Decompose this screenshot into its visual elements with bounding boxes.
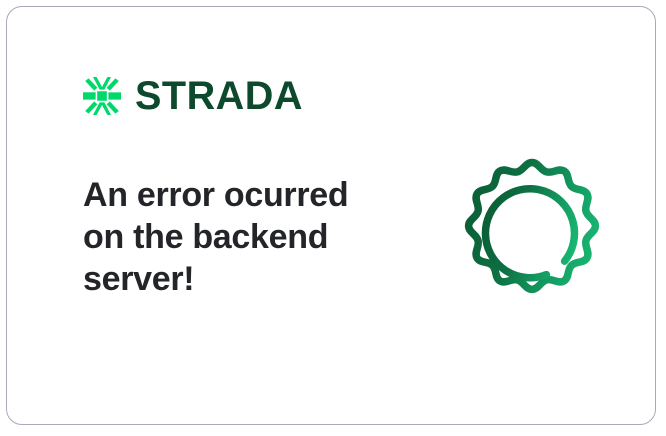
brand-wordmark: STRADA — [135, 76, 303, 116]
error-message-line-3: server! — [83, 258, 383, 300]
error-card: STRADA An error ocurred on the backend s… — [6, 6, 656, 425]
error-message-line-1: An error ocurred — [83, 174, 383, 216]
error-message: An error ocurred on the backend server! — [83, 174, 383, 300]
error-screen: STRADA An error ocurred on the backend s… — [0, 0, 666, 436]
strada-asterisk-icon — [79, 73, 125, 119]
gear-cog-icon — [448, 140, 616, 312]
error-message-line-2: on the backend — [83, 216, 383, 258]
brand-lockup: STRADA — [79, 73, 305, 119]
